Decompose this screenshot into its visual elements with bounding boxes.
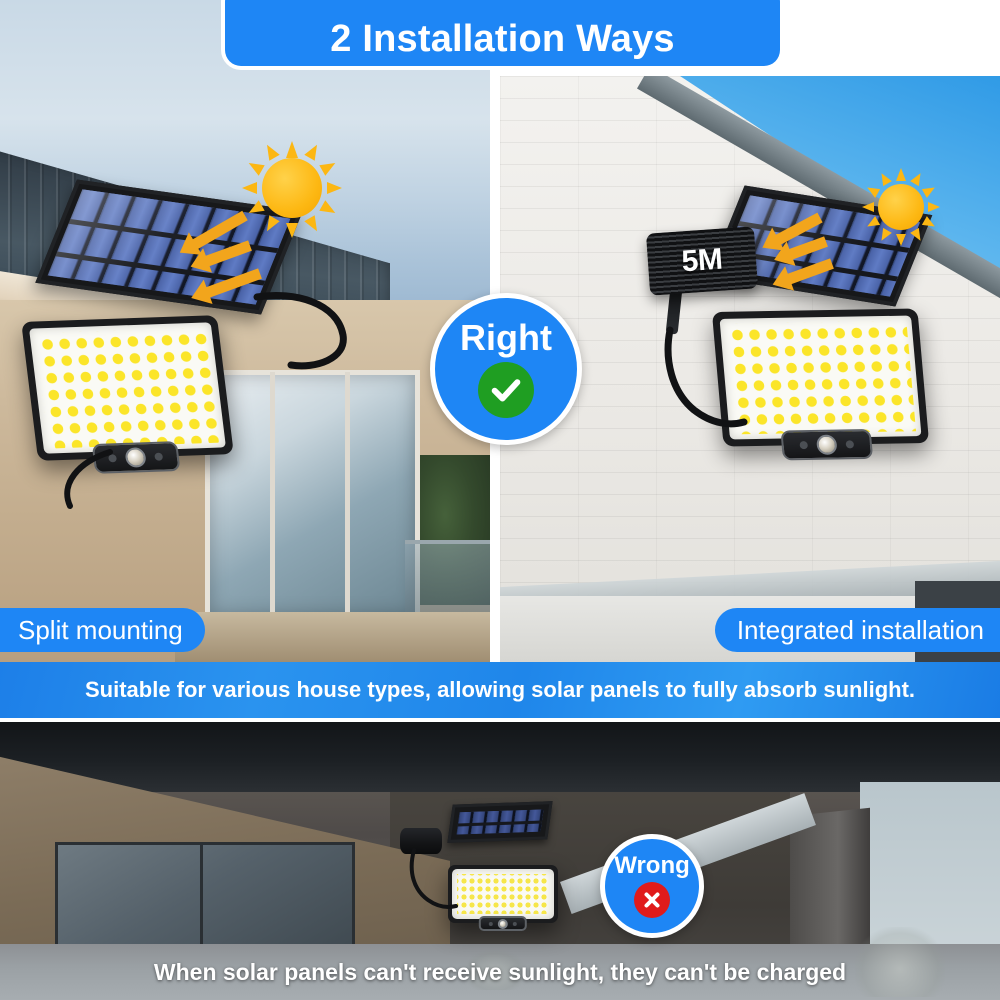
indicator-dot [513,922,517,926]
led-diode-grid [35,327,221,448]
pir-sensor-icon [815,435,837,455]
check-circle-icon [478,362,534,418]
label-text: Integrated installation [737,615,984,646]
page-title: 2 Installation Ways [330,18,674,60]
caption-text: Suitable for various house types, allowi… [85,677,915,703]
sun-core [878,184,924,230]
badge-label: Right [460,320,552,356]
connection-cable [408,850,478,920]
caption-bar-bottom: When solar panels can't receive sunlight… [0,950,1000,994]
solar-panel-shaded [447,801,552,843]
sun-icon [862,168,940,246]
caption-bar-middle: Suitable for various house types, allowi… [0,662,1000,718]
motion-sensor-module [479,916,527,931]
label-split-mounting: Split mounting [0,608,205,652]
pir-sensor-icon [498,919,508,929]
window-mullion [200,844,203,955]
cross-circle-icon [634,882,670,918]
label-text: Split mounting [18,615,183,646]
window-glass [55,842,355,957]
status-badge-wrong: Wrong [600,834,704,938]
window-mullion [345,372,350,618]
indicator-dot [799,441,808,449]
balcony-edge [175,612,490,662]
connection-cable [255,285,375,375]
cable-coil: 5M [646,226,758,295]
indicator-dot [489,922,493,926]
caption-text: When solar panels can't receive sunlight… [154,959,846,986]
badge-label: Wrong [614,854,690,878]
cable-length-label: 5M [681,243,724,280]
sun-core [262,158,322,218]
window-glass [205,370,420,620]
indicator-dot [845,440,854,448]
connection-cable [664,330,774,440]
sun-icon [242,138,342,238]
ceiling-edge [0,722,1000,792]
label-integrated-installation: Integrated installation [715,608,1000,652]
title-banner: 2 Installation Ways [225,0,780,66]
window-mullion [270,372,275,618]
infographic-page: 5M Split mounting Integrated installatio… [0,0,1000,1000]
fixture-cable [48,448,168,518]
led-light-fixture [21,315,234,461]
motion-sensor-module [780,429,873,460]
led-face [29,322,226,453]
status-badge-right: Right [430,293,582,445]
